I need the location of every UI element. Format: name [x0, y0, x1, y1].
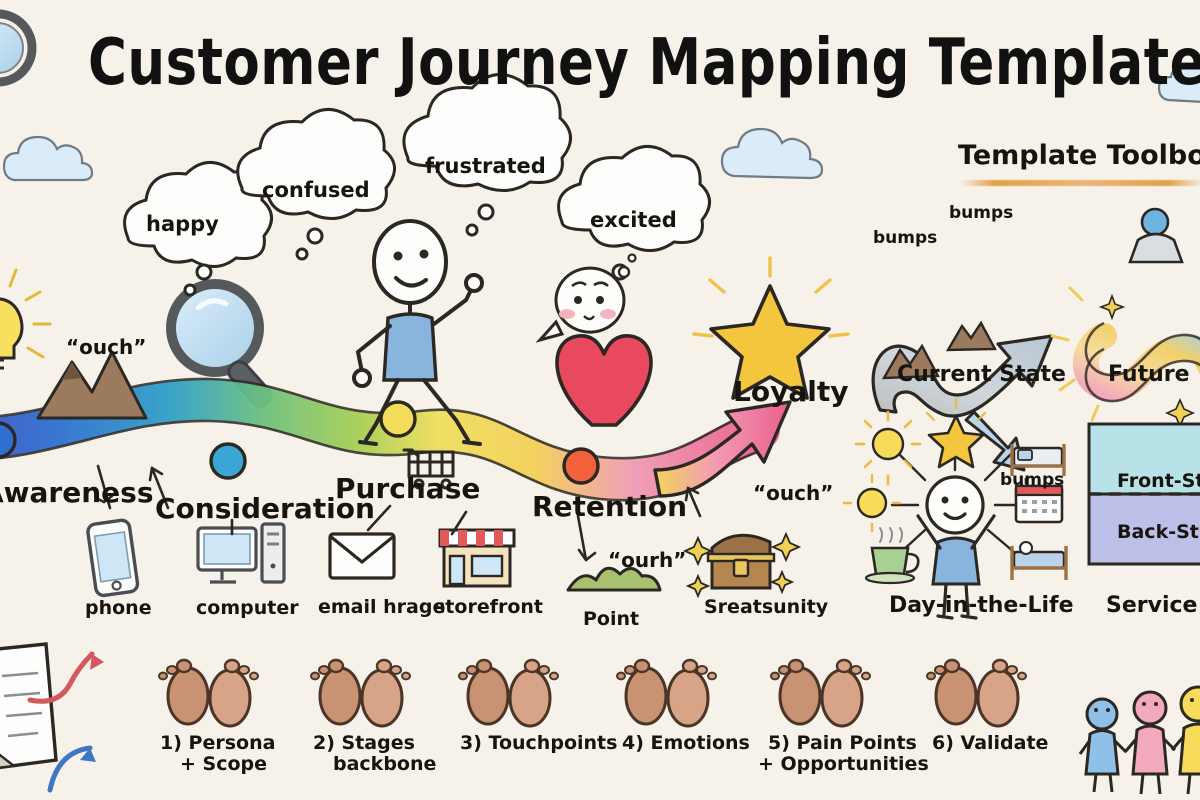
- blueprint-row-front-stage: Front-St: [1117, 470, 1200, 492]
- step-label-5: 5) Pain Points + Opportunities: [768, 733, 929, 776]
- toolbox-caption-future-state: Future: [1108, 362, 1190, 387]
- step-label-3: 3) Touchpoints: [460, 733, 617, 754]
- bump-label-1: bumps: [873, 228, 937, 248]
- touchpoint-caption-phone: phone: [85, 597, 152, 619]
- stage-label-loyalty: Loyalty: [733, 375, 848, 408]
- step-text-2: Stages: [342, 732, 415, 754]
- step-number-2: 2): [313, 732, 335, 754]
- bump-label-2: bumps: [949, 203, 1013, 223]
- step-number-3: 3): [460, 732, 482, 754]
- service-blueprint-icon: [1089, 424, 1200, 564]
- smartphone-icon: [87, 519, 139, 596]
- touchpoint-caption-point: Point: [583, 608, 639, 630]
- annotation-ourh-painpoint: “ourh”: [608, 548, 686, 572]
- step-label-2: 2) Stages backbone: [313, 733, 436, 776]
- blueprint-row-back-stage: Back-St: [1117, 521, 1199, 543]
- shop-icon: [440, 530, 514, 586]
- annotation-ouch-awareness: “ouch”: [66, 335, 146, 359]
- step-text-3: Touchpoints: [489, 732, 618, 754]
- step-text-1: Persona: [189, 732, 276, 754]
- emotion-label-confused: confused: [262, 178, 370, 202]
- touchpoint-caption-storefront: storefront: [434, 596, 543, 618]
- step-label-4: 4) Emotions: [622, 733, 750, 754]
- envelope-icon: [330, 534, 394, 578]
- toolbox-caption-current-state: Current State: [897, 362, 1066, 387]
- emotion-label-frustrated: frustrated: [425, 154, 546, 178]
- step-text-4: Emotions: [651, 732, 750, 754]
- bump-label-3: bumps: [1000, 470, 1064, 490]
- step-number-4: 4): [622, 732, 644, 754]
- journey-map-canvas: [0, 0, 1200, 800]
- milestone-dot-consideration: [211, 444, 245, 478]
- touchpoint-caption-email: email hrage: [318, 596, 445, 618]
- page-title: Customer Journey Mapping Templates: [88, 26, 1200, 100]
- step-label-1: 1) Persona + Scope: [160, 733, 275, 776]
- touchpoint-caption-computer: computer: [196, 597, 299, 619]
- step-number-5: 5): [768, 732, 790, 754]
- toolbox-underline: [960, 180, 1200, 186]
- toolbox-caption-day-in-the-life: Day-in-the-Life: [889, 593, 1074, 618]
- stage-label-retention: Retention: [532, 490, 687, 523]
- step-number-1: 1): [160, 732, 182, 754]
- step-number-6: 6): [932, 732, 954, 754]
- stage-label-purchase: Purchase: [335, 472, 480, 505]
- step-text-6: Validate: [961, 732, 1049, 754]
- step-text-2b: backbone: [333, 754, 436, 775]
- emotion-label-excited: excited: [590, 208, 677, 232]
- milestone-dot-retention: [564, 449, 598, 483]
- stage-label-awareness: Awareness: [0, 476, 154, 509]
- clipboard-icon: [0, 644, 56, 768]
- toolbox-caption-service-blueprint: Service Bl: [1106, 593, 1200, 618]
- step-label-6: 6) Validate: [932, 733, 1048, 754]
- step-text-1b: + Scope: [180, 754, 275, 775]
- step-text-5: Pain Points: [797, 732, 917, 754]
- annotation-ouch-treasure: “ouch”: [753, 481, 833, 505]
- step-text-5b: + Opportunities: [758, 754, 929, 775]
- touchpoint-caption-opportunity: Sreatsunity: [704, 596, 828, 618]
- toolbox-header: Template Toolbox: [958, 140, 1200, 171]
- emotion-label-happy: happy: [146, 212, 219, 236]
